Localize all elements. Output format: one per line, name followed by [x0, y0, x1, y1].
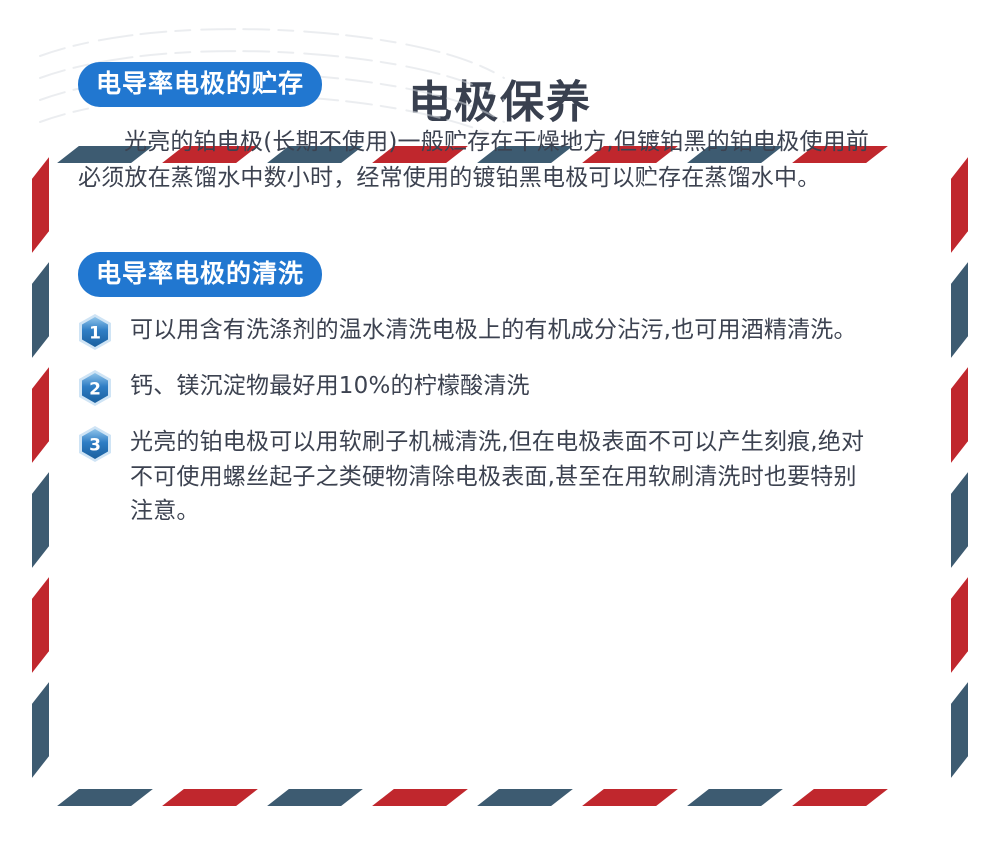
border-stripe-left	[32, 262, 49, 358]
hexagon-number-icon: 1	[78, 313, 112, 351]
list-item-text: 钙、镁沉淀物最好用10%的柠檬酸清洗	[130, 367, 530, 404]
hexagon-number-icon: 3	[78, 425, 112, 463]
border-stripe-right	[951, 682, 968, 778]
border-stripe-bottom	[267, 789, 363, 806]
hexagon-number-text: 1	[89, 324, 101, 344]
border-stripe-left	[32, 577, 49, 673]
border-stripe-bottom	[477, 789, 573, 806]
border-stripe-bottom	[372, 789, 468, 806]
border-stripe-bottom	[582, 789, 678, 806]
hexagon-number-text: 2	[89, 380, 101, 400]
cleaning-steps-list: 1 可以用含有洗涤剂的温水清洗电极上的有机成分沾污,也可用酒精清洗。 2 钙、镁…	[78, 311, 878, 529]
section-cleaning: 电导率电极的清洗	[78, 252, 878, 529]
border-stripe-right	[951, 262, 968, 358]
border-stripe-right	[951, 367, 968, 463]
border-stripe-bottom	[792, 789, 888, 806]
border-stripe-left	[32, 157, 49, 253]
list-item-text: 可以用含有洗涤剂的温水清洗电极上的有机成分沾污,也可用酒精清洗。	[130, 311, 857, 348]
section-storage: 电导率电极的贮存 光亮的铂电极(长期不使用)一般贮存在干燥地方,但镀铂黑的铂电极…	[78, 62, 878, 196]
storage-paragraph: 光亮的铂电极(长期不使用)一般贮存在干燥地方,但镀铂黑的铂电极使用前必须放在蒸馏…	[78, 125, 878, 196]
border-stripe-right	[951, 577, 968, 673]
list-item: 3 光亮的铂电极可以用软刷子机械清洗,但在电极表面不可以产生刻痕,绝对不可使用螺…	[78, 423, 878, 529]
border-stripe-left	[32, 472, 49, 568]
border-stripe-bottom	[687, 789, 783, 806]
section-heading-badge-storage: 电导率电极的贮存	[78, 62, 322, 107]
poster-page: 电极保养 电导率电极的贮存 光亮的铂电极(长期不使用)一般贮存在干燥地方,但镀铂…	[0, 0, 1000, 868]
border-stripe-bottom	[57, 789, 153, 806]
border-stripe-right	[951, 157, 968, 253]
border-stripe-left	[32, 367, 49, 463]
hexagon-number-icon: 2	[78, 369, 112, 407]
border-stripe-bottom	[162, 789, 258, 806]
list-item-text: 光亮的铂电极可以用软刷子机械清洗,但在电极表面不可以产生刻痕,绝对不可使用螺丝起…	[130, 423, 878, 529]
section-heading-badge-cleaning: 电导率电极的清洗	[78, 252, 322, 297]
content-body: 电导率电极的贮存 光亮的铂电极(长期不使用)一般贮存在干燥地方,但镀铂黑的铂电极…	[78, 62, 878, 529]
border-stripe-left	[32, 682, 49, 778]
hexagon-number-text: 3	[89, 436, 101, 456]
list-item: 1 可以用含有洗涤剂的温水清洗电极上的有机成分沾污,也可用酒精清洗。	[78, 311, 878, 351]
border-stripe-right	[951, 472, 968, 568]
list-item: 2 钙、镁沉淀物最好用10%的柠檬酸清洗	[78, 367, 878, 407]
